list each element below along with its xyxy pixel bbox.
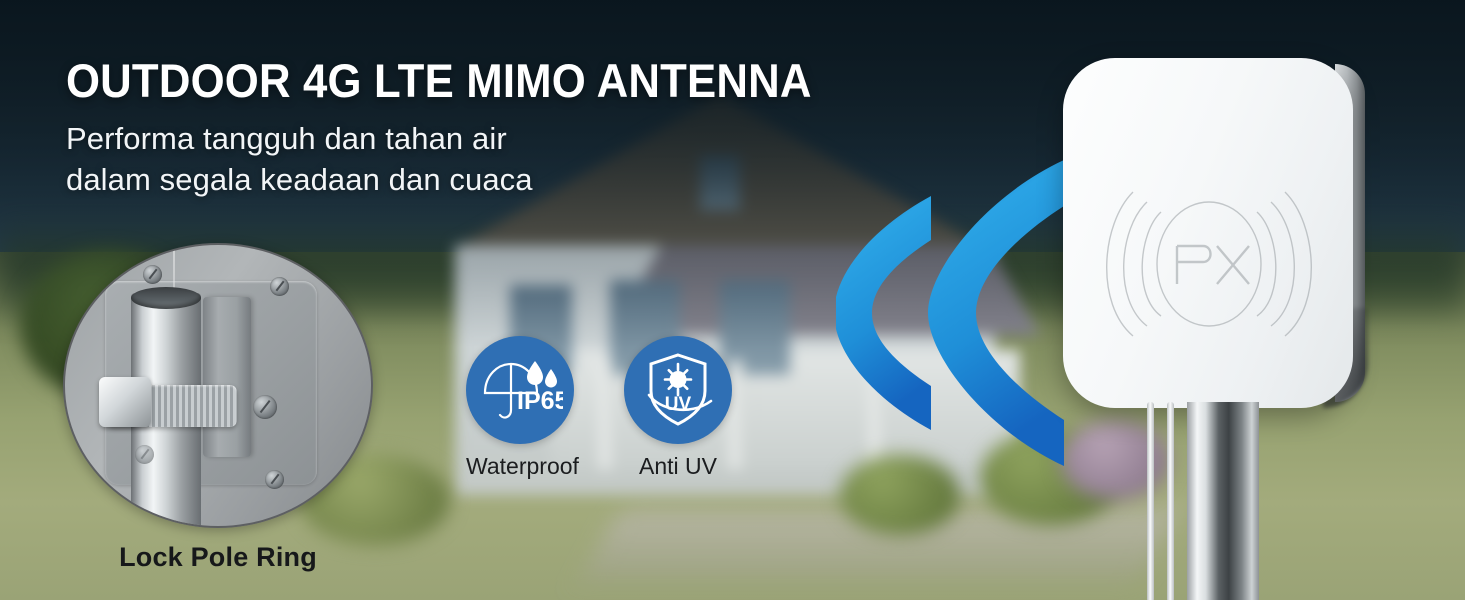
feature-badges: IP65 Waterproof UV Anti UV: [466, 336, 732, 480]
screw-icon: [253, 395, 277, 419]
ip65-badge: IP65: [466, 336, 574, 444]
svg-text:UV: UV: [665, 394, 692, 415]
feature-label: Waterproof: [466, 453, 574, 480]
uv-badge: UV: [624, 336, 732, 444]
antenna-cable: [1167, 402, 1174, 600]
signal-waves-icon: [836, 148, 1066, 478]
headline-block: OUTDOOR 4G LTE MIMO ANTENNA Performa tan…: [66, 56, 868, 201]
subheadline: Performa tangguh dan tahan air dalam seg…: [66, 119, 868, 201]
umbrella-water-drops-icon: IP65: [477, 347, 563, 433]
screw-icon: [270, 277, 289, 296]
px-brand-logo-icon: [1099, 176, 1319, 351]
lock-pole-ring-callout: Lock Pole Ring: [63, 243, 373, 573]
pole-clamp-photo: [63, 243, 373, 528]
feature-anti-uv: UV Anti UV: [624, 336, 732, 480]
subheadline-line-1: Performa tangguh dan tahan air: [66, 119, 868, 160]
screw-icon: [143, 265, 162, 284]
screw-icon: [135, 445, 154, 464]
page-title: OUTDOOR 4G LTE MIMO ANTENNA: [66, 56, 812, 105]
screw-icon: [265, 470, 284, 489]
antenna-panel: [1063, 58, 1353, 408]
lock-pole-ring-label: Lock Pole Ring: [63, 542, 373, 573]
shield-sun-icon: UV: [635, 347, 721, 433]
mounting-mast: [1187, 402, 1259, 600]
svg-text:IP65: IP65: [517, 387, 563, 415]
product-banner: OUTDOOR 4G LTE MIMO ANTENNA Performa tan…: [0, 0, 1465, 600]
subheadline-line-2: dalam segala keadaan dan cuaca: [66, 160, 868, 201]
feature-label: Anti UV: [624, 453, 732, 480]
feature-waterproof: IP65 Waterproof: [466, 336, 574, 480]
antenna-cable: [1147, 402, 1154, 600]
